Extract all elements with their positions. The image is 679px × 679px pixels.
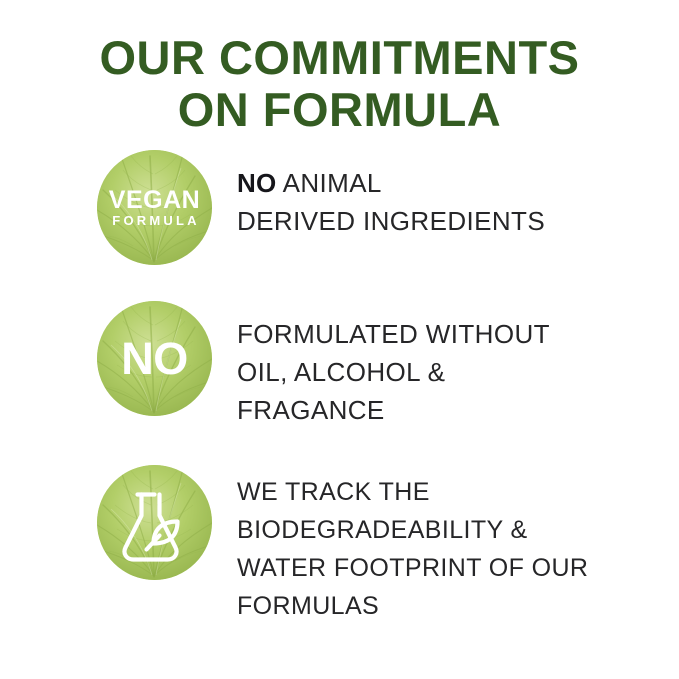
- page-title-line-1: OUR COMMITMENTS: [0, 32, 679, 84]
- commitments-list: VEGAN FORMULA NO ANIMAL DERIVED INGREDIE…: [0, 150, 679, 625]
- commitment-text-no-oil: FORMULATED WITHOUT OIL, ALCOHOL & FRAGAN…: [212, 301, 679, 429]
- commitment-line-2: DERIVED INGREDIENTS: [237, 202, 679, 240]
- leaf-texture-icon: [97, 465, 212, 580]
- commitment-item-no-oil: NO FORMULATED WITHOUT OIL, ALCOHOL & FRA…: [0, 301, 679, 429]
- leaf-texture-icon: [97, 150, 212, 265]
- commitment-item-vegan: VEGAN FORMULA NO ANIMAL DERIVED INGREDIE…: [0, 150, 679, 265]
- commitment-line-3: WATER FOOTPRINT OF OUR: [237, 549, 679, 587]
- commitment-lead-word: NO: [237, 168, 276, 198]
- commitment-line-2: BIODEGRADEABILITY &: [237, 511, 679, 549]
- no-leaf-badge: NO: [97, 301, 212, 416]
- flask-leaf-badge: [97, 465, 212, 580]
- commitment-line-1: WE TRACK THE: [237, 473, 679, 511]
- commitment-text-vegan: NO ANIMAL DERIVED INGREDIENTS: [212, 150, 679, 240]
- commitment-line-3: FRAGANCE: [237, 391, 679, 429]
- commitments-infographic: OUR COMMITMENTS ON FORMULA: [0, 0, 679, 679]
- vegan-formula-leaf-badge: VEGAN FORMULA: [97, 150, 212, 265]
- leaf-texture-icon: [97, 301, 212, 416]
- commitment-item-biodegradeability: WE TRACK THE BIODEGRADEABILITY & WATER F…: [0, 465, 679, 625]
- page-title-line-2: ON FORMULA: [0, 84, 679, 136]
- commitment-line-1: NO ANIMAL: [237, 164, 679, 202]
- page-title: OUR COMMITMENTS ON FORMULA: [0, 32, 679, 136]
- commitment-line-4: FORMULAS: [237, 587, 679, 625]
- commitment-line-2: OIL, ALCOHOL &: [237, 353, 679, 391]
- commitment-line-1: FORMULATED WITHOUT: [237, 315, 679, 353]
- commitment-line-1-rest: ANIMAL: [276, 168, 381, 198]
- commitment-text-biodegradeability: WE TRACK THE BIODEGRADEABILITY & WATER F…: [212, 465, 679, 625]
